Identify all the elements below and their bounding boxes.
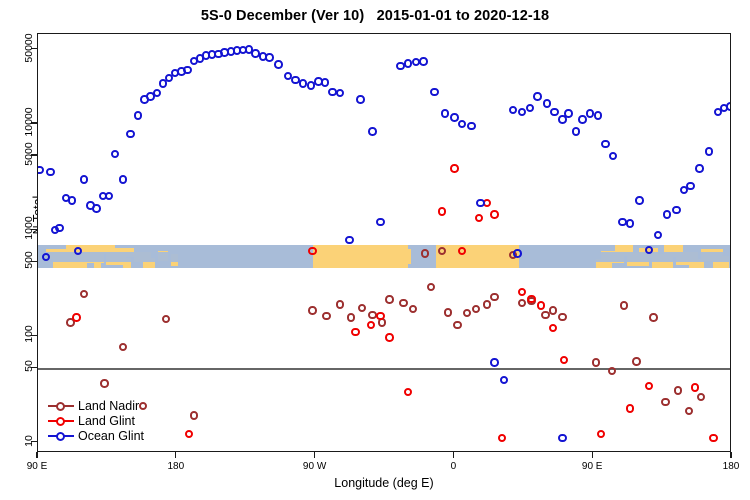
data-point-ocean_glint [183, 66, 191, 74]
data-point-land_glint [185, 430, 193, 438]
data-point-land_nadir [336, 300, 344, 308]
legend-item-land-nadir: Land Nadir [48, 398, 144, 413]
data-point-land_nadir [558, 313, 566, 321]
data-point-land_nadir [608, 367, 616, 375]
data-point-ocean_glint [92, 204, 100, 212]
data-point-ocean_glint [550, 108, 558, 116]
data-point-ocean_glint [356, 95, 364, 103]
data-point-land_glint [72, 313, 80, 321]
data-point-land_glint [626, 404, 634, 412]
data-point-land_nadir [463, 309, 471, 317]
data-point-land_nadir [444, 308, 452, 316]
data-point-land_nadir [347, 313, 355, 321]
data-point-ocean_glint [126, 130, 134, 138]
y-tick-label: 1000 [23, 198, 35, 258]
data-point-ocean_glint [564, 109, 572, 117]
data-point-land_nadir [322, 312, 330, 320]
data-point-ocean_glint [37, 166, 44, 174]
x-tick-label: 180 [723, 461, 740, 472]
data-point-ocean_glint [134, 111, 142, 119]
data-point-land_glint [438, 207, 446, 215]
data-point-ocean_glint [663, 210, 671, 218]
data-point-land_glint [597, 430, 605, 438]
x-tick-mark [314, 452, 315, 458]
data-point-ocean_glint [609, 152, 617, 160]
data-point-ocean_glint [441, 109, 449, 117]
x-tick-mark [730, 452, 731, 458]
data-point-ocean_glint [645, 246, 653, 254]
x-tick-mark [592, 452, 593, 458]
x-tick-label: 90 W [303, 461, 326, 472]
data-point-ocean_glint [654, 231, 662, 239]
y-tick-label: 10000 [23, 92, 35, 152]
data-point-ocean_glint [321, 78, 329, 86]
data-point-ocean_glint [68, 196, 76, 204]
data-point-ocean_glint [705, 147, 713, 155]
data-point-land_glint [518, 288, 526, 296]
threshold-line [38, 368, 730, 369]
data-point-land_nadir [661, 398, 669, 406]
map-land-block [313, 249, 362, 264]
plot-area [38, 34, 730, 451]
data-point-ocean_glint [55, 224, 63, 232]
data-point-ocean_glint [672, 206, 680, 214]
data-point-land_nadir [549, 306, 557, 314]
legend-item-ocean-glint: Ocean Glint [48, 428, 144, 443]
data-point-ocean_glint [105, 192, 113, 200]
data-point-ocean_glint [500, 376, 508, 384]
data-point-ocean_glint [578, 115, 586, 123]
data-point-land_nadir [620, 301, 628, 309]
data-point-ocean_glint [80, 175, 88, 183]
x-tick-label: 180 [167, 461, 184, 472]
y-tick-label: 50000 [23, 18, 35, 78]
data-point-ocean_glint [419, 57, 427, 65]
data-point-ocean_glint [265, 53, 273, 61]
data-point-land_glint [385, 333, 393, 341]
data-point-land_nadir [453, 321, 461, 329]
x-tick-mark [453, 452, 454, 458]
data-point-land_nadir [308, 306, 316, 314]
data-point-land_nadir [632, 357, 640, 365]
data-point-land_nadir [80, 290, 88, 298]
data-point-land_nadir [518, 299, 526, 307]
data-point-land_nadir [399, 299, 407, 307]
legend-marker-icon [48, 399, 74, 413]
data-point-land_nadir [483, 300, 491, 308]
data-point-ocean_glint [558, 434, 566, 442]
data-point-land_glint [404, 388, 412, 396]
data-point-land_nadir [162, 315, 170, 323]
data-point-ocean_glint [726, 102, 731, 110]
data-point-land_nadir [592, 358, 600, 366]
data-point-ocean_glint [46, 168, 54, 176]
data-point-ocean_glint [368, 127, 376, 135]
x-tick-mark [36, 452, 37, 458]
data-point-ocean_glint [42, 253, 50, 261]
map-land-block [436, 249, 519, 264]
data-point-ocean_glint [430, 88, 438, 96]
data-point-ocean_glint [695, 164, 703, 172]
x-axis-label: Longitude (deg E) [37, 476, 731, 490]
data-point-ocean_glint [376, 218, 384, 226]
data-point-land_glint [351, 328, 359, 336]
data-point-land_nadir [472, 305, 480, 313]
x-tick-label: 0 [451, 461, 457, 472]
data-point-ocean_glint [467, 122, 475, 130]
data-point-ocean_glint [119, 175, 127, 183]
data-point-land_glint [537, 301, 545, 309]
data-point-ocean_glint [572, 127, 580, 135]
data-point-land_nadir [119, 343, 127, 351]
data-point-ocean_glint [526, 104, 534, 112]
data-point-land_nadir [697, 393, 705, 401]
data-point-land_nadir [358, 304, 366, 312]
legend-marker-icon [48, 414, 74, 428]
data-point-ocean_glint [458, 120, 466, 128]
chart-title: 5S-0 December (Ver 10) 2015-01-01 to 202… [0, 8, 750, 24]
data-point-land_nadir [490, 293, 498, 301]
data-point-ocean_glint [111, 150, 119, 158]
legend-label: Ocean Glint [78, 429, 144, 443]
data-point-land_glint [475, 214, 483, 222]
legend-label: Land Glint [78, 414, 135, 428]
data-point-land_glint [560, 356, 568, 364]
x-tick-mark [175, 452, 176, 458]
data-point-land_nadir [409, 305, 417, 313]
map-land-block [362, 249, 411, 264]
legend-item-land-glint: Land Glint [48, 413, 144, 428]
data-point-land_glint [308, 247, 316, 255]
data-point-ocean_glint [509, 106, 517, 114]
data-point-land_glint [490, 210, 498, 218]
data-point-land_glint [376, 312, 384, 320]
data-point-ocean_glint [345, 236, 353, 244]
data-point-ocean_glint [513, 249, 521, 257]
data-point-land_nadir [385, 295, 393, 303]
plot-frame [37, 33, 731, 452]
data-point-ocean_glint [533, 92, 541, 100]
data-point-land_nadir [674, 386, 682, 394]
data-point-land_glint [691, 383, 699, 391]
legend-label: Land Nadir [78, 399, 139, 413]
data-point-land_nadir [427, 283, 435, 291]
data-point-land_glint [367, 321, 375, 329]
data-point-land_glint [709, 434, 717, 442]
data-point-land_nadir [685, 407, 693, 415]
data-point-land_nadir [649, 313, 657, 321]
data-point-ocean_glint [594, 111, 602, 119]
data-point-land_glint [645, 382, 653, 390]
data-point-ocean_glint [686, 182, 694, 190]
chart-legend: Land NadirLand GlintOcean Glint [48, 398, 144, 443]
data-point-land_glint [498, 434, 506, 442]
y-tick-label: 100 [23, 304, 35, 364]
data-point-land_glint [450, 164, 458, 172]
data-point-ocean_glint [601, 140, 609, 148]
data-point-ocean_glint [626, 219, 634, 227]
chart-figure: 5S-0 December (Ver 10) 2015-01-01 to 202… [0, 0, 750, 500]
legend-marker-icon [48, 429, 74, 443]
data-point-land_glint [527, 295, 535, 303]
data-point-land_nadir [438, 247, 446, 255]
data-point-ocean_glint [490, 358, 498, 366]
data-point-ocean_glint [274, 60, 282, 68]
data-point-land_glint [549, 324, 557, 332]
data-point-ocean_glint [153, 89, 161, 97]
x-tick-label: 90 E [27, 461, 48, 472]
data-point-land_nadir [190, 411, 198, 419]
data-point-land_nadir [100, 379, 108, 387]
data-point-land_nadir [421, 249, 429, 257]
data-point-ocean_glint [336, 89, 344, 97]
data-point-ocean_glint [635, 196, 643, 204]
x-tick-label: 90 E [582, 461, 603, 472]
data-point-ocean_glint [450, 113, 458, 121]
data-point-ocean_glint [476, 199, 484, 207]
data-point-ocean_glint [543, 99, 551, 107]
